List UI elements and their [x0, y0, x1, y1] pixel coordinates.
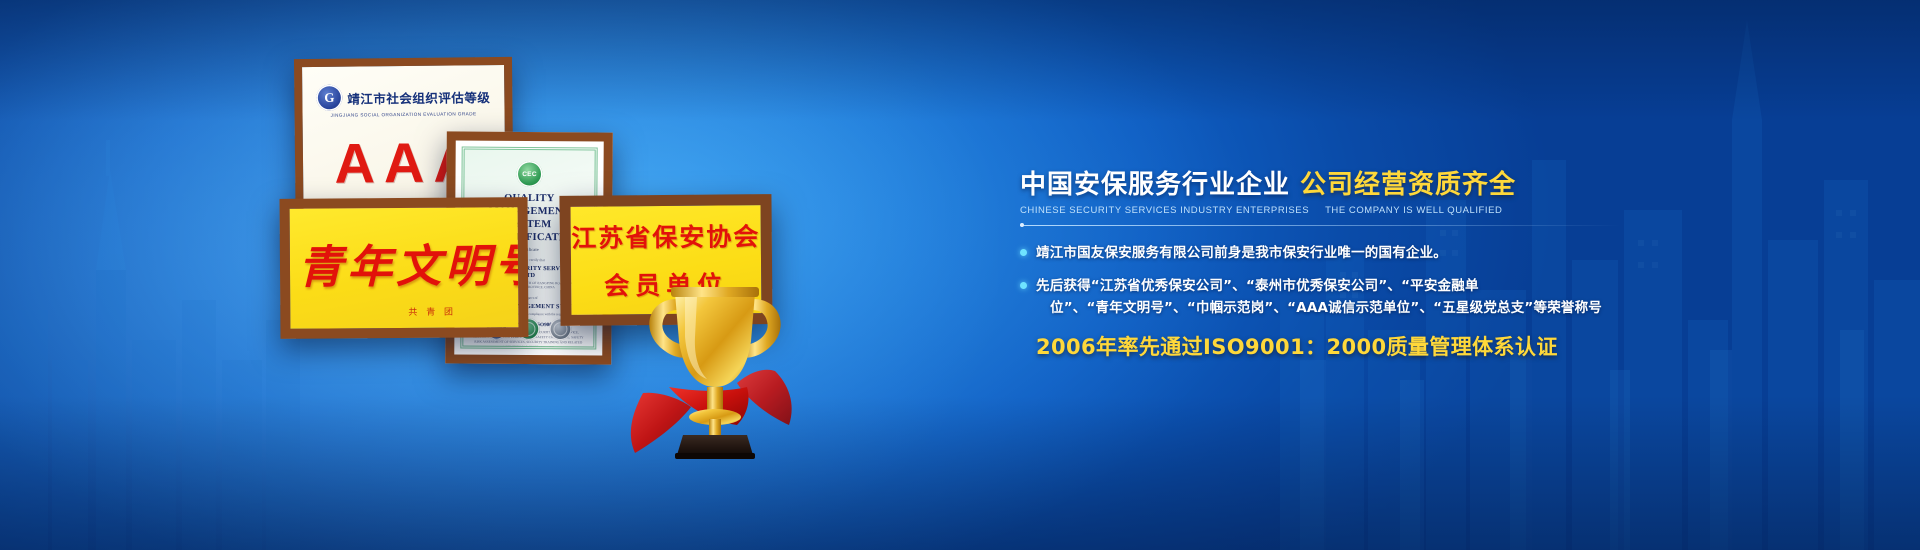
- promo-banner: 靖江市社会组织评估等级 JINGJIANG SOCIAL ORGANIZATIO…: [0, 0, 1920, 550]
- youth-plaque-subtitle: 共 青 团: [408, 305, 456, 318]
- bullet-dot-icon: [1020, 282, 1027, 289]
- divider: [1020, 225, 1620, 226]
- aaa-org-title: 靖江市社会组织评估等级: [347, 87, 490, 107]
- aaa-org-title-en: JINGJIANG SOCIAL ORGANIZATION EVALUATION…: [311, 111, 497, 118]
- bullet-dot-icon: [1020, 249, 1027, 256]
- official-seal-icon: [316, 85, 342, 111]
- list-item: 先后获得“江苏省优秀保安公司”、“泰州市优秀保安公司”、“平安金融单 位”、“青…: [1020, 276, 1640, 320]
- headline-primary: 中国安保服务行业企业: [1020, 170, 1290, 200]
- iso-certification-highlight: 2006年率先通过ISO9001：2000质量管理体系认证: [1036, 331, 1640, 361]
- gold-trophy-icon: [625, 275, 805, 460]
- headline-secondary: 公司经营资质齐全: [1300, 170, 1516, 200]
- plaque-youth-civilization: 青年文明号 共 青 团: [280, 197, 529, 339]
- bullet-text-2-line2: 位”、“青年文明号”、“巾帼示范岗”、“AAA诚信示范单位”、“五星级党总支”等…: [1050, 298, 1602, 320]
- page-title: 中国安保服务行业企业公司经营资质齐全: [1020, 172, 1640, 198]
- bullet-text-1: 靖江市国友保安服务有限公司前身是我市保安行业唯一的国有企业。: [1036, 243, 1447, 265]
- headline-english: CHINESE SECURITY SERVICES INDUSTRY ENTER…: [1020, 205, 1640, 216]
- list-item: 靖江市国友保安服务有限公司前身是我市保安行业唯一的国有企业。: [1020, 243, 1640, 265]
- banner-content: 中国安保服务行业企业公司经营资质齐全 CHINESE SECURITY SERV…: [1020, 172, 1640, 361]
- headline-english-secondary: THE COMPANY IS WELL QUALIFIED: [1325, 205, 1502, 216]
- headline-english-primary: CHINESE SECURITY SERVICES INDUSTRY ENTER…: [1020, 205, 1309, 216]
- jiangsu-plaque-line1: 江苏省保安协会: [571, 217, 760, 255]
- aaa-header: 靖江市社会组织评估等级: [310, 83, 496, 111]
- bullet-text-2-line1: 先后获得“江苏省优秀保安公司”、“泰州市优秀保安公司”、“平安金融单: [1036, 278, 1479, 294]
- bullet-text-2: 先后获得“江苏省优秀保安公司”、“泰州市优秀保安公司”、“平安金融单 位”、“青…: [1036, 276, 1602, 320]
- certificates-cluster: 靖江市社会组织评估等级 JINGJIANG SOCIAL ORGANIZATIO…: [270, 30, 810, 500]
- bullet-list: 靖江市国友保安服务有限公司前身是我市保安行业唯一的国有企业。 先后获得“江苏省优…: [1020, 243, 1640, 320]
- youth-plaque-title: 青年文明号: [298, 229, 529, 296]
- cec-logo-icon: [516, 161, 542, 187]
